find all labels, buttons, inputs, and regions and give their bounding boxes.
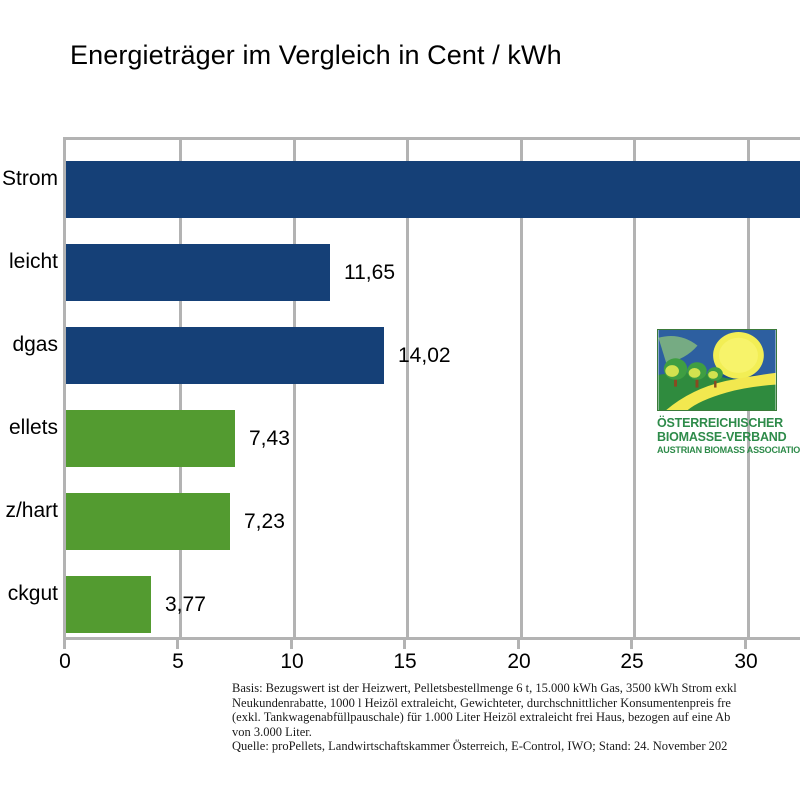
x-tick-mark-30	[744, 640, 747, 649]
logo-line-austrian-biomass-association: AUSTRIAN BIOMASS ASSOCIATION	[657, 444, 779, 456]
logo-line-biomasse-verband: BIOMASSE-VERBAND	[657, 430, 779, 444]
x-tick-mark-15	[403, 640, 406, 649]
bar-group-heizoel-extraleicht: 11,65	[66, 231, 800, 314]
logo-text: ÖSTERREICHISCHER BIOMASSE-VERBAND AUSTRI…	[657, 416, 779, 456]
bar-heizoel-extraleicht[interactable]	[66, 244, 330, 301]
bar-value-heizoel-extraleicht: 11,65	[344, 261, 395, 285]
x-tick-label-5: 5	[172, 650, 184, 674]
page-title: Energieträger im Vergleich in Cent / kWh	[70, 40, 562, 71]
bar-group-hackgut: 3,77	[66, 563, 800, 646]
bar-group-strom	[66, 148, 800, 231]
bar-value-scheitholz-hart: 7,23	[244, 510, 285, 534]
y-axis-label-scheitholz: z/hart	[0, 469, 58, 552]
bar-scheitholz-hart[interactable]	[66, 493, 230, 550]
y-axis-label-erdgas: dgas	[0, 303, 58, 386]
biomass-landscape-icon	[657, 329, 777, 411]
bar-value-erdgas: 14,02	[398, 344, 451, 368]
x-tick-label-15: 15	[393, 650, 416, 674]
y-axis-label-heizoel: leicht	[0, 220, 58, 303]
bar-erdgas[interactable]	[66, 327, 384, 384]
x-tick-mark-10	[290, 640, 293, 649]
x-tick-label-25: 25	[620, 650, 643, 674]
y-axis-label-hackgut: ckgut	[0, 552, 58, 635]
footnote-line-1: Basis: Bezugswert ist der Heizwert, Pell…	[232, 681, 800, 696]
x-tick-mark-25	[630, 640, 633, 649]
bar-value-hackgut: 3,77	[165, 593, 206, 617]
x-tick-label-10: 10	[280, 650, 303, 674]
x-tick-label-0: 0	[59, 650, 71, 674]
y-axis-label-pellets: ellets	[0, 386, 58, 469]
biomass-association-logo: ÖSTERREICHISCHER BIOMASSE-VERBAND AUSTRI…	[657, 329, 779, 456]
x-tick-mark-20	[517, 640, 520, 649]
footnote-line-5: Quelle: proPellets, Landwirtschaftskamme…	[232, 739, 800, 754]
x-tick-label-30: 30	[734, 650, 757, 674]
y-axis-label-strom: Strom	[0, 137, 58, 220]
bar-strom[interactable]	[66, 161, 800, 218]
bar-group-scheitholz-hart: 7,23	[66, 480, 800, 563]
footnote-line-2: Neukundenrabatte, 1000 l Heizöl extralei…	[232, 696, 800, 711]
bar-hackgut[interactable]	[66, 576, 151, 633]
footnote-line-3: (exkl. Tankwagenabfüllpauschale) für 1.0…	[232, 710, 800, 725]
x-tick-mark-5	[176, 640, 179, 649]
x-tick-label-20: 20	[507, 650, 530, 674]
logo-line-oesterreichischer: ÖSTERREICHISCHER	[657, 416, 779, 430]
footnote-line-4: von 3.000 Liter.	[232, 725, 800, 740]
footnote-source-note: Basis: Bezugswert ist der Heizwert, Pell…	[232, 681, 800, 754]
x-tick-mark-0	[63, 640, 66, 649]
bar-pellets[interactable]	[66, 410, 235, 467]
bar-value-pellets: 7,43	[249, 427, 290, 451]
